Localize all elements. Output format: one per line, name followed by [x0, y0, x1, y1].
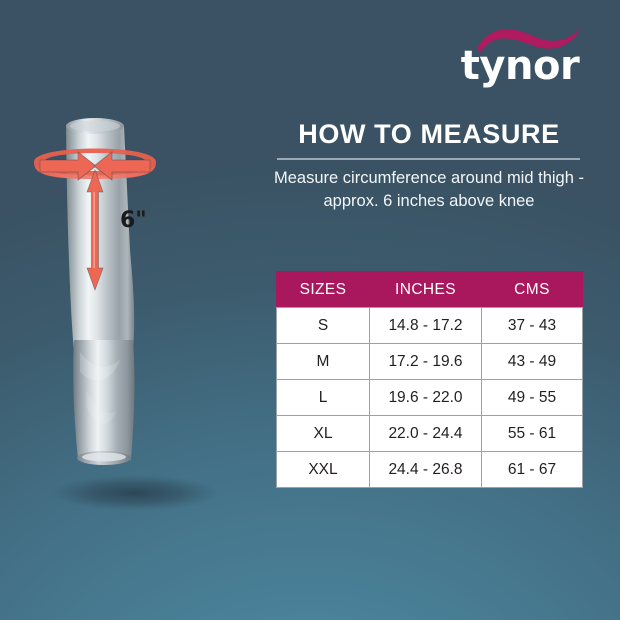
cell-inches: 19.6 - 22.0: [370, 380, 482, 416]
cell-cms: 55 - 61: [482, 416, 583, 452]
column-header-sizes: SIZES: [277, 272, 370, 308]
table-row: XL 22.0 - 24.4 55 - 61: [277, 416, 583, 452]
size-table: SIZES INCHES CMS S 14.8 - 17.2 37 - 43 M…: [276, 271, 583, 488]
cell-size: XL: [277, 416, 370, 452]
table-row: M 17.2 - 19.6 43 - 49: [277, 344, 583, 380]
thigh-shape: [66, 123, 134, 350]
cell-cms: 37 - 43: [482, 308, 583, 344]
thigh-top-inner: [70, 120, 120, 131]
cell-inches: 17.2 - 19.6: [370, 344, 482, 380]
leg-bottom-inner: [82, 453, 126, 462]
table-header-row: SIZES INCHES CMS: [277, 272, 583, 308]
cell-size: M: [277, 344, 370, 380]
brand-wordmark: tynor: [455, 44, 585, 88]
cell-cms: 49 - 55: [482, 380, 583, 416]
leg-illustration: 6": [20, 100, 265, 520]
page-title: HOW TO MEASURE: [276, 118, 582, 150]
cell-inches: 22.0 - 24.4: [370, 416, 482, 452]
page-subtitle: Measure circumference around mid thigh -…: [270, 167, 588, 213]
measurement-label: 6": [120, 208, 147, 233]
title-divider: [277, 158, 580, 160]
table-row: S 14.8 - 17.2 37 - 43: [277, 308, 583, 344]
cell-inches: 24.4 - 26.8: [370, 452, 482, 488]
cell-inches: 14.8 - 17.2: [370, 308, 482, 344]
size-chart-page: tynor HOW TO MEASURE Measure circumferen…: [0, 0, 620, 620]
cell-size: L: [277, 380, 370, 416]
cell-size: S: [277, 308, 370, 344]
table-row: L 19.6 - 22.0 49 - 55: [277, 380, 583, 416]
leg-diagram-svg: [20, 100, 265, 520]
cell-cms: 61 - 67: [482, 452, 583, 488]
cell-size: XXL: [277, 452, 370, 488]
column-header-inches: INCHES: [370, 272, 482, 308]
column-header-cms: CMS: [482, 272, 583, 308]
table-row: XXL 24.4 - 26.8 61 - 67: [277, 452, 583, 488]
cell-cms: 43 - 49: [482, 344, 583, 380]
brand-logo: tynor: [455, 22, 585, 92]
ground-shadow: [51, 475, 219, 511]
